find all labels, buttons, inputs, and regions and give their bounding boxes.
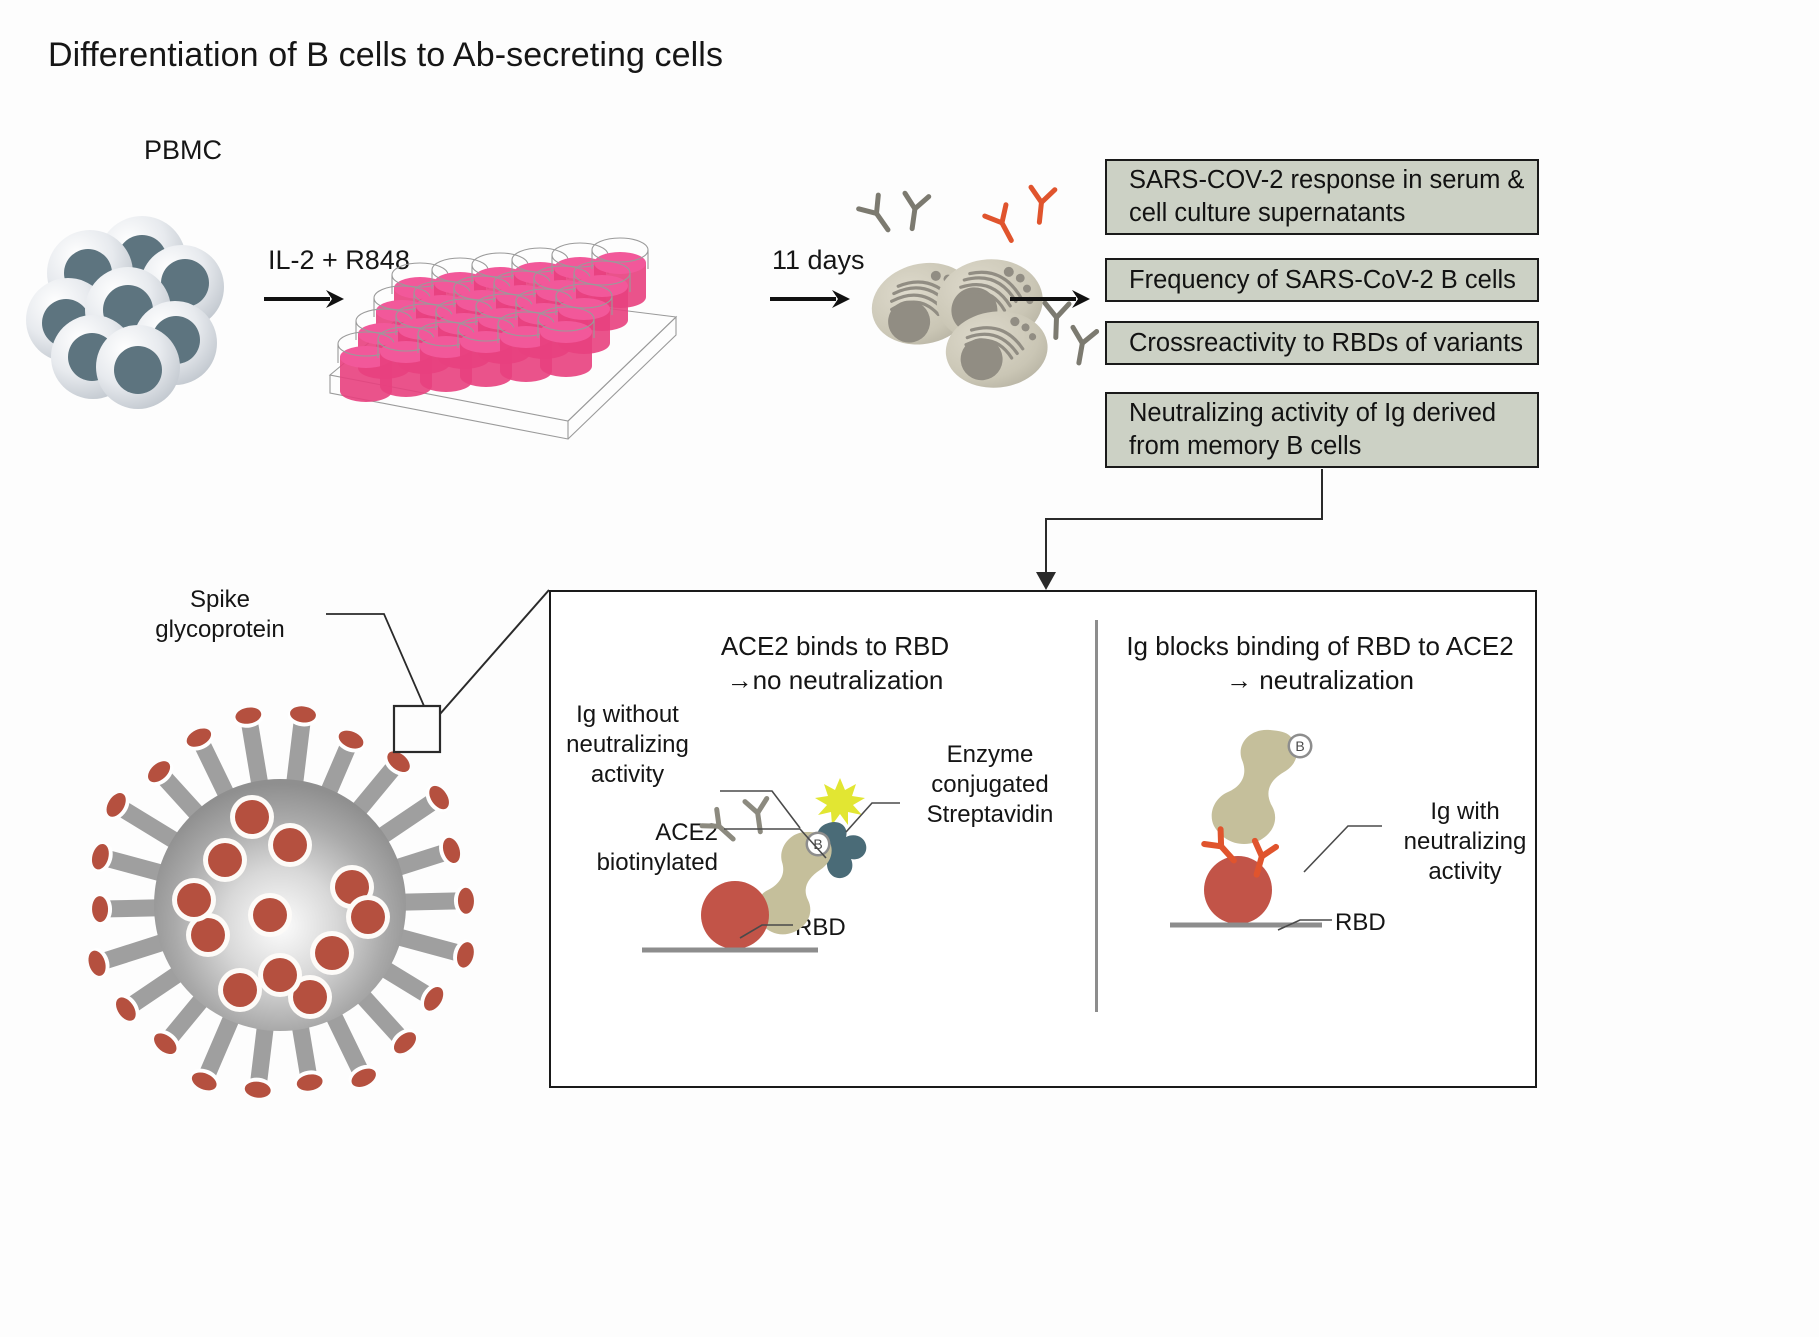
result-line: Frequency of SARS-CoV-2 B cells <box>1129 264 1537 297</box>
result-box-neutralizing-activity[interactable]: Neutralizing activity of Ig derived from… <box>1105 392 1539 468</box>
pbmc-cells <box>26 216 224 409</box>
duration-label: 11 days <box>772 245 865 276</box>
sars-cov-2-virion <box>70 690 490 1110</box>
left-panel-heading: ACE2 binds to RBD →no neutralization <box>600 629 1070 698</box>
spike-glycoprotein-label: Spike glycoprotein <box>120 585 320 645</box>
result-box-b-cell-frequency[interactable]: Frequency of SARS-CoV-2 B cells <box>1105 258 1539 302</box>
pbmc-label: PBMC <box>144 135 222 166</box>
workflow-arrow-3 <box>1010 288 1092 310</box>
plasma-cell-group <box>855 185 1105 385</box>
result-line: cell culture supernatants <box>1129 197 1537 230</box>
result-box-serum-response[interactable]: SARS-COV-2 response in serum & cell cult… <box>1105 159 1539 235</box>
antibody-gray-icon <box>859 193 929 236</box>
antibody-gray-icon <box>1044 303 1097 365</box>
result-line: from memory B cells <box>1129 430 1537 463</box>
workflow-arrow-2 <box>770 288 852 310</box>
figure-title: Differentiation of B cells to Ab-secreti… <box>48 36 723 75</box>
rbd-circle <box>701 881 769 949</box>
result-line: Neutralizing activity of Ig derived <box>1129 397 1537 430</box>
ig-without-neutralizing-label: Ig without neutralizing activity <box>540 700 715 791</box>
well-plate <box>318 225 688 450</box>
panel-divider <box>1095 620 1098 1012</box>
biotin-badge-icon: B <box>806 832 831 857</box>
svg-text:B: B <box>813 836 822 852</box>
biotin-badge-icon: B <box>1288 734 1313 759</box>
enzyme-icon <box>815 778 865 825</box>
ace2-rbd-complex: B <box>700 770 960 970</box>
figure-canvas: Differentiation of B cells to Ab-secreti… <box>0 0 1819 1337</box>
result-box-crossreactivity[interactable]: Crossreactivity to RBDs of variants <box>1105 321 1539 365</box>
svg-text:B: B <box>1295 738 1304 754</box>
right-panel-heading: Ig blocks binding of RBD to ACE2 → neutr… <box>1110 629 1530 698</box>
antibody-nonneutralizing-icon <box>702 799 771 848</box>
result-line: Crossreactivity to RBDs of variants <box>1129 327 1537 360</box>
antibody-orange-icon <box>985 187 1055 246</box>
plasma-cells <box>863 252 1051 392</box>
ace2-biotinylated-label: ACE2 biotinylated <box>530 818 718 878</box>
ace2-molecule <box>1212 730 1297 844</box>
result-line: SARS-COV-2 response in serum & <box>1129 164 1537 197</box>
ig-blocking-complex: B <box>1190 730 1440 970</box>
pbmc-cell-cluster <box>30 215 240 400</box>
